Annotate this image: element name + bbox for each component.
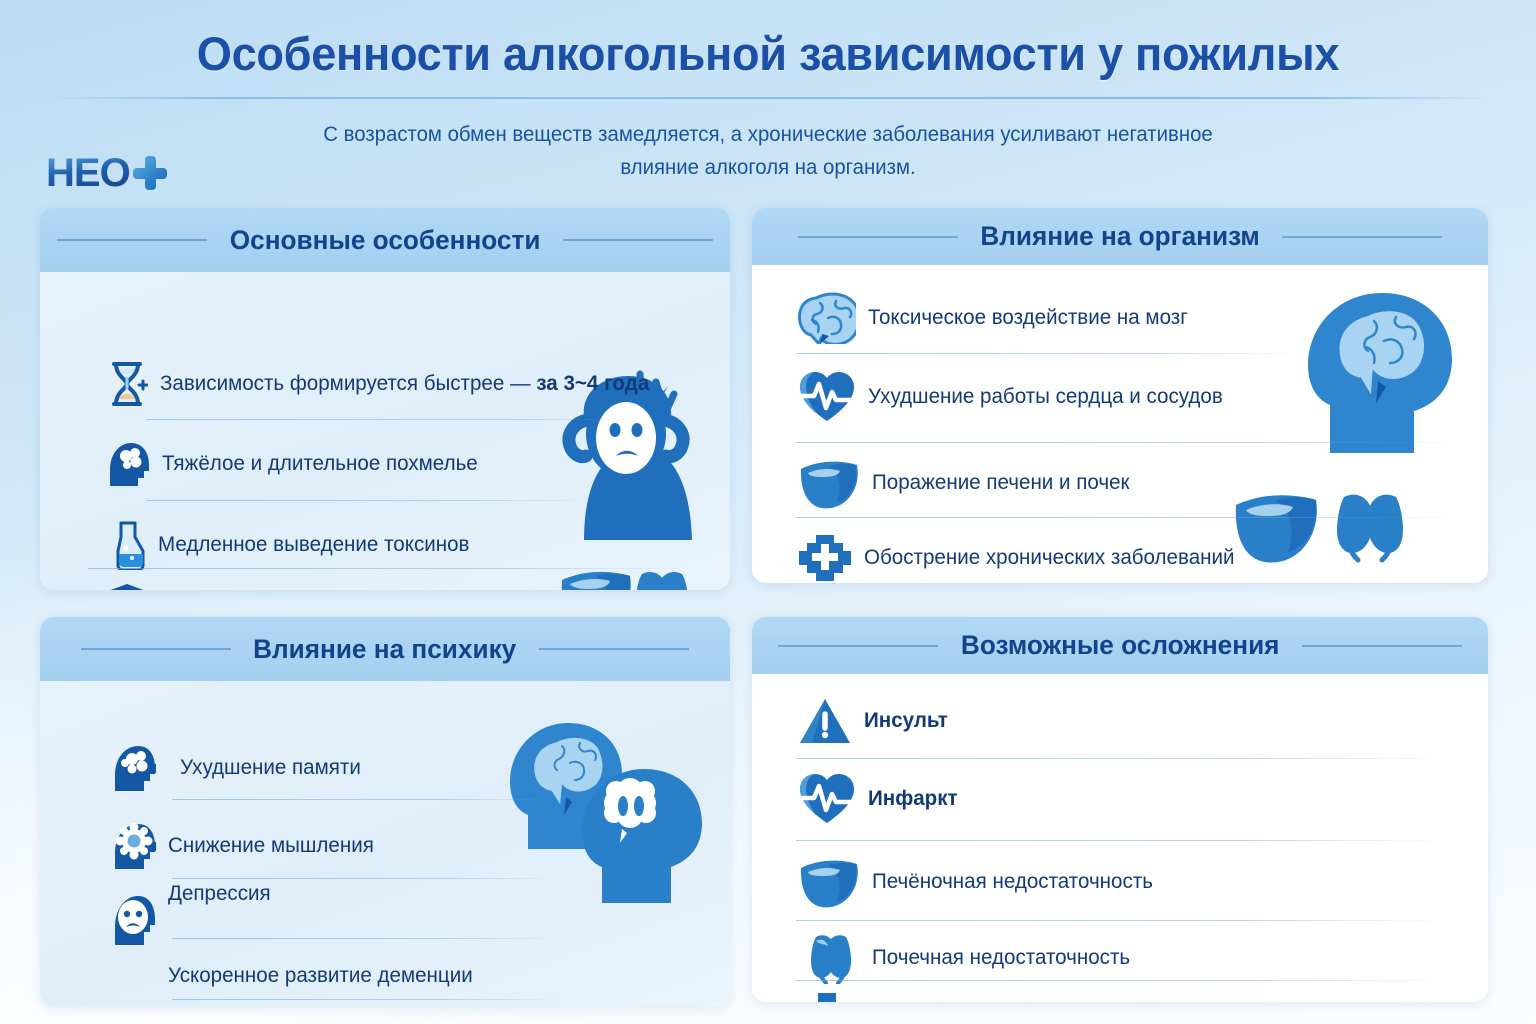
header-rule-right	[563, 239, 713, 241]
row-divider	[796, 442, 1456, 443]
row-divider	[88, 568, 688, 569]
heart-pulse-icon	[798, 772, 856, 826]
down-arrow-icon	[802, 990, 852, 1002]
list-item-label: Печёночная недостаточность	[872, 870, 1153, 894]
card-psyche-impact: Влияние на психику	[40, 617, 730, 1007]
list-item[interactable]: Ухудшение памяти	[110, 743, 365, 793]
title-divider	[48, 97, 1488, 99]
list-item-label: Снижение мышления	[168, 834, 374, 858]
logo-wordmark: НЕО	[46, 153, 130, 193]
medical-cross-icon	[798, 533, 852, 583]
liver-kidney-illustration	[1232, 487, 1412, 567]
card-title: Возможные осложнения	[961, 630, 1280, 661]
head-brain-illustration	[1300, 285, 1460, 455]
list-item[interactable]: Зависимость формируется быстрее — за 3~4…	[106, 360, 659, 408]
head-sad-icon	[110, 893, 156, 947]
card-body: Ухудшение памяти	[40, 681, 730, 1007]
card-main-features: Основные особенности	[40, 208, 730, 590]
list-item-label: Зависимость формируется быстрее — за 3~4…	[160, 372, 649, 396]
list-item[interactable]: Токсическое воздействие на мозг	[798, 292, 1194, 344]
list-item[interactable]: Усиленная нагрузка на печень и почки	[106, 582, 547, 590]
card-body: Токсическое воздействие на мозг Ухудшени…	[752, 265, 1488, 583]
liver-icon	[798, 457, 860, 509]
card-body: Инсульт Инфаркт	[752, 674, 1488, 1002]
card-title: Влияние на организм	[980, 221, 1259, 252]
card-header: Влияние на организм	[752, 208, 1488, 265]
row-divider	[172, 799, 562, 800]
list-item[interactable]: Обострение хронических заболеваний	[798, 533, 1242, 583]
row-divider	[172, 999, 562, 1000]
plus-icon	[133, 156, 167, 190]
shield-cross-icon	[106, 582, 148, 590]
head-gear-icon	[110, 821, 156, 871]
kidneys-icon	[798, 932, 860, 984]
list-item[interactable]: Медленное выведение токсинов	[110, 520, 476, 570]
list-item-label: Медленное выведение токсинов	[158, 533, 469, 557]
list-item-label: Почечная недостаточность	[872, 946, 1130, 970]
card-body: Зависимость формируется быстрее — за 3~4…	[40, 272, 730, 590]
row-divider	[796, 840, 1446, 841]
header-rule-left	[778, 645, 938, 647]
list-item-label-text: Ухудшение памяти	[180, 756, 361, 780]
head-hangover-icon	[106, 440, 150, 488]
card-title: Основные особенности	[230, 225, 541, 256]
list-item-label: Токсическое воздействие на мозг	[868, 306, 1188, 330]
list-item-label: Поражение печени и почек	[872, 471, 1130, 495]
header-rule-left	[81, 648, 231, 650]
hourglass-icon	[106, 360, 148, 408]
row-divider	[146, 419, 640, 420]
header-rule-left	[57, 239, 207, 241]
header-rule-right	[539, 648, 689, 650]
header-rule-right	[1282, 236, 1442, 238]
brain-icon	[798, 292, 856, 344]
row-divider	[796, 758, 1446, 759]
flask-icon	[110, 520, 146, 570]
card-header: Влияние на психику	[40, 617, 730, 681]
header-rule-right	[1302, 645, 1462, 647]
liver-icon	[798, 856, 860, 908]
row-divider	[796, 353, 1300, 354]
page-title: Особенности алкогольной зависимости у по…	[31, 26, 1506, 81]
page-header: Особенности алкогольной зависимости у по…	[0, 0, 1536, 206]
page-subtitle: С возрастом обмен веществ замедляется, а…	[283, 118, 1253, 184]
list-item-label: Депрессия	[168, 882, 271, 906]
list-item-label: Инсульт	[864, 709, 948, 733]
list-item-label: Тяжёлое и длительное похмелье	[162, 452, 478, 476]
list-item-label: Ухудшение работы сердца и сосудов	[868, 385, 1223, 409]
row-divider	[172, 878, 562, 879]
list-item-label: Обострение хронических заболеваний	[864, 546, 1235, 570]
row-divider	[796, 980, 1446, 981]
warning-triangle-icon	[798, 696, 852, 746]
list-item[interactable]: Печёночная недостаточность	[798, 856, 1159, 908]
list-item-label: Ускоренное развитие деменции	[168, 964, 473, 988]
card-complications: Возможные осложнения Инсульт	[752, 617, 1488, 1002]
list-item[interactable]: Снижение мышления	[110, 821, 378, 871]
card-body-impact: Влияние на организм	[752, 208, 1488, 583]
row-divider	[796, 920, 1446, 921]
list-item[interactable]: Инфаркт	[798, 772, 959, 826]
heart-pulse-icon	[798, 370, 856, 424]
row-divider	[172, 938, 562, 939]
list-item[interactable]: Ухудшение качества жизни	[802, 990, 1129, 1002]
list-item[interactable]: Тяжёлое и длительное похмелье	[106, 440, 484, 488]
header-rule-left	[798, 236, 958, 238]
neo-plus-logo: НЕО	[46, 150, 167, 196]
card-title: Влияние на психику	[253, 634, 516, 665]
row-divider	[146, 500, 596, 501]
list-item[interactable]: Ускоренное развитие деменции	[110, 951, 479, 1001]
row-divider	[796, 517, 1456, 518]
list-item[interactable]: Почечная недостаточность	[798, 932, 1135, 984]
card-header: Основные особенности	[40, 208, 730, 272]
list-item[interactable]: Ухудшение работы сердца и сосудов	[798, 370, 1230, 424]
list-item-label: Инфаркт	[868, 787, 958, 811]
card-header: Возможные осложнения	[752, 617, 1488, 674]
list-item[interactable]: Инсульт	[798, 696, 950, 746]
list-item[interactable]: Поражение печени и почек	[798, 457, 1135, 509]
head-memory-icon	[110, 743, 156, 793]
